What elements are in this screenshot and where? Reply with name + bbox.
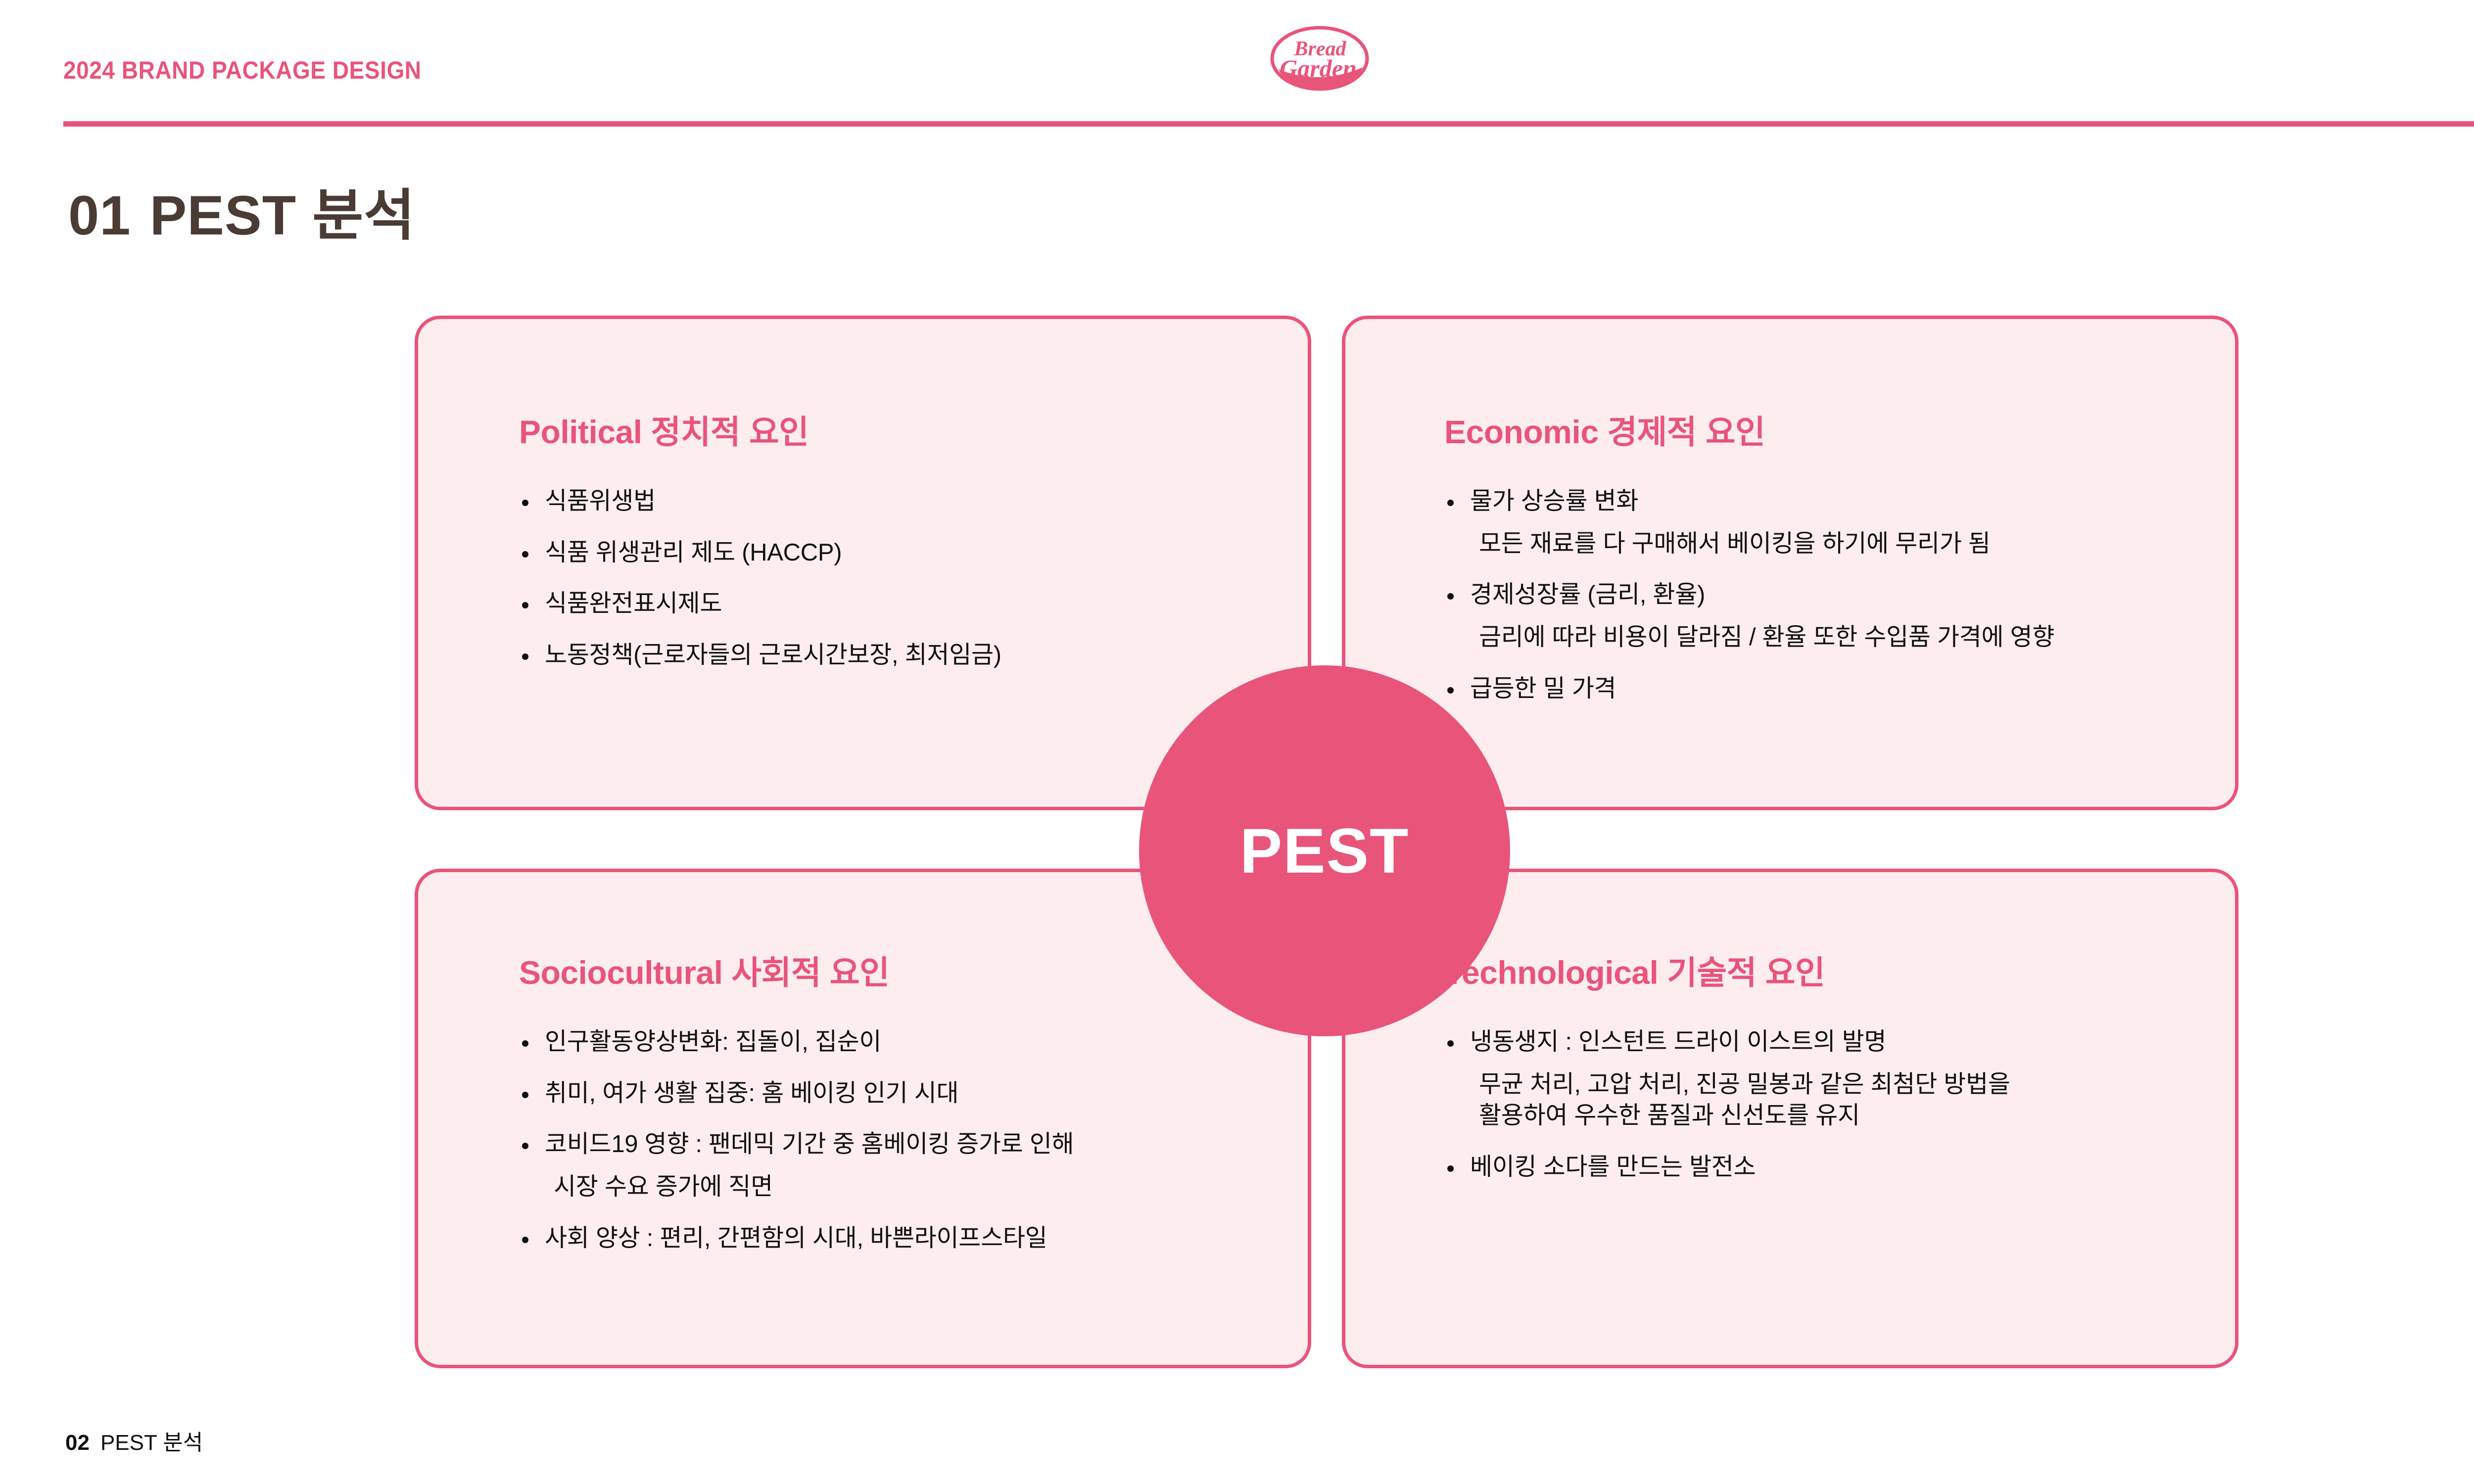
list-item: 급등한 밀 가격	[1444, 673, 2054, 705]
list-item: 식품완전표시제도	[519, 588, 1001, 620]
svg-text:Garden: Garden	[1280, 54, 1357, 82]
bullet-subtext: 금리에 따라 비용이 달라짐 / 환율 또한 수입품 가격에 영향	[1479, 622, 2054, 653]
quadrant-card-political: Political 정치적 요인 식품위생법 식품 위생관리 제도 (HACCP…	[415, 316, 1311, 810]
page-title-number: 01	[68, 185, 131, 246]
footer-section-label: PEST 분석	[100, 1431, 203, 1455]
bullet-text: 노동정책(근로자들의 근로시간보장, 최저임금)	[545, 642, 1001, 668]
bullet-text: 냉동생지 : 인스턴트 드라이 이스트의 발명	[1470, 1028, 1886, 1055]
bullet-text: 식품 위생관리 제도 (HACCP)	[545, 539, 842, 566]
footer-section: 02PEST 분석	[65, 1425, 203, 1456]
bullet-text: 베이킹 소다를 만드는 발전소	[1470, 1154, 1756, 1180]
header-divider	[63, 121, 2474, 127]
bullet-text: 코비드19 영향 : 팬데믹 기간 중 홈베이킹 증가로 인해	[545, 1131, 1074, 1158]
bullet-subtext: 모든 재료를 다 구매해서 베이킹을 하기에 무리가 됨	[1479, 528, 2054, 560]
list-item: 식품위생법	[519, 486, 1001, 517]
header-kicker: 2024 BRAND PACKAGE DESIGN	[63, 56, 422, 85]
page-title: 01PEST 분석	[68, 171, 415, 251]
bullet-text: 물가 상승률 변화	[1470, 488, 1638, 514]
bullet-list-economic: 물가 상승률 변화 모든 재료를 다 구매해서 베이킹을 하기에 무리가 됨 경…	[1444, 486, 2054, 704]
list-item: 베이킹 소다를 만드는 발전소	[1444, 1152, 2010, 1183]
bullet-text: 급등한 밀 가격	[1470, 675, 1616, 702]
bullet-subtext: 시장 수요 증가에 직면	[554, 1171, 1074, 1203]
bullet-text: 인구활동양상변화: 집돌이, 집순이	[545, 1028, 881, 1055]
bullet-text: 경제성장률 (금리, 환율)	[1470, 581, 1705, 608]
bullet-text: 취미, 여가 생활 집중: 홈 베이킹 인기 시대	[545, 1080, 958, 1107]
list-item: 사회 양상 : 편리, 간편함의 시대, 바쁜라이프스타일	[519, 1223, 1074, 1254]
quadrant-heading-technological: Technological 기술적 요인	[1444, 946, 2010, 994]
quadrant-heading-political: Political 정치적 요인	[519, 406, 1001, 453]
bullet-list-political: 식품위생법 식품 위생관리 제도 (HACCP) 식품완전표시제도 노동정책(근…	[519, 486, 1001, 671]
bread-garden-logo: Bread Garden	[1233, 14, 1406, 103]
quadrant-heading-economic: Economic 경제적 요인	[1444, 406, 2054, 453]
list-item: 인구활동양상변화: 집돌이, 집순이	[519, 1026, 1074, 1058]
list-item: 경제성장률 (금리, 환율) 금리에 따라 비용이 달라짐 / 환율 또한 수입…	[1444, 579, 2054, 653]
slide-footer: 02PEST 분석 09	[0, 1410, 2474, 1484]
quadrant-heading-sociocultural: Sociocultural 사회적 요인	[519, 946, 1074, 994]
list-item: 식품 위생관리 제도 (HACCP)	[519, 537, 1001, 569]
bullet-text: 식품위생법	[545, 488, 656, 514]
bullet-list-technological: 냉동생지 : 인스턴트 드라이 이스트의 발명 무균 처리, 고압 처리, 진공…	[1444, 1026, 2010, 1183]
list-item: 물가 상승률 변화 모든 재료를 다 구매해서 베이킹을 하기에 무리가 됨	[1444, 486, 2054, 559]
slide-root: 2024 BRAND PACKAGE DESIGN Bread Garden 0…	[0, 0, 2474, 1484]
slide-header: 2024 BRAND PACKAGE DESIGN Bread Garden 0…	[0, 0, 2474, 124]
bullet-subtext: 무균 처리, 고압 처리, 진공 밀봉과 같은 최첨단 방법을활용하여 우수한 …	[1479, 1069, 2010, 1132]
bullet-text: 사회 양상 : 편리, 간편함의 시대, 바쁜라이프스타일	[545, 1225, 1047, 1252]
pest-center-circle: PEST	[1139, 665, 1510, 1036]
list-item: 냉동생지 : 인스턴트 드라이 이스트의 발명 무균 처리, 고압 처리, 진공…	[1444, 1026, 2010, 1132]
bullet-text: 식품완전표시제도	[545, 590, 722, 617]
list-item: 노동정책(근로자들의 근로시간보장, 최저임금)	[519, 640, 1001, 671]
list-item: 취미, 여가 생활 집중: 홈 베이킹 인기 시대	[519, 1078, 1074, 1110]
list-item: 코비드19 영향 : 팬데믹 기간 중 홈베이킹 증가로 인해 시장 수요 증가…	[519, 1129, 1074, 1203]
footer-section-number: 02	[65, 1431, 90, 1455]
bullet-list-sociocultural: 인구활동양상변화: 집돌이, 집순이 취미, 여가 생활 집중: 홈 베이킹 인…	[519, 1026, 1074, 1254]
pest-center-label: PEST	[1240, 815, 1409, 887]
page-title-text: PEST 분석	[150, 185, 416, 246]
quadrant-card-economic: Economic 경제적 요인 물가 상승률 변화 모든 재료를 다 구매해서 …	[1342, 316, 2238, 810]
